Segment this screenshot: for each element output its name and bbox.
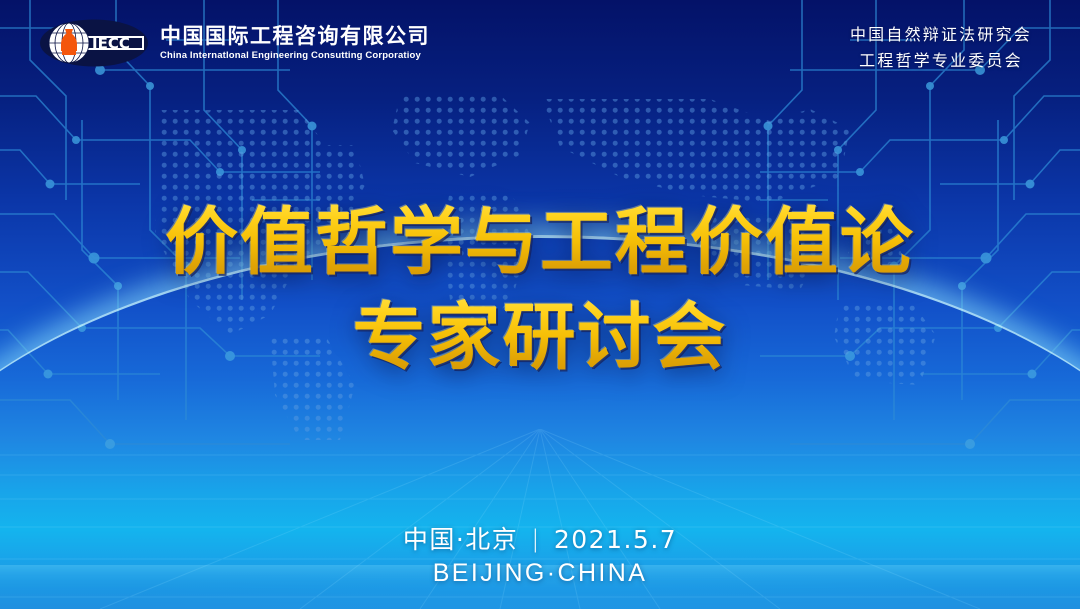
conference-title: 价值哲学与工程价值论 专家研讨会 xyxy=(0,196,1080,386)
event-date: 2021.5.7 xyxy=(554,524,677,556)
title-line-2: 专家研讨会 xyxy=(0,291,1080,386)
title-line-1: 价值哲学与工程价值论 xyxy=(0,196,1080,291)
organizer-line-2: 工程哲学专业委员会 xyxy=(850,48,1032,74)
company-name-en: China Internatlonal Engineering Consutti… xyxy=(160,51,430,61)
conference-banner: IECC 中国国际工程咨询有限公司 China Internatlonal En… xyxy=(0,0,1080,609)
location-en: BEIJING·CHINA xyxy=(0,557,1080,590)
organizer-line-1: 中国自然辩证法研究会 xyxy=(850,22,1032,48)
company-brand: IECC 中国国际工程咨询有限公司 China Internatlonal En… xyxy=(40,18,430,68)
svg-text:IECC: IECC xyxy=(92,35,130,53)
iecc-globe-logo-icon: IECC xyxy=(40,18,148,68)
company-name-cn: 中国国际工程咨询有限公司 xyxy=(160,25,430,49)
brand-text-group: 中国国际工程咨询有限公司 China Internatlonal Enginee… xyxy=(160,25,430,61)
location-cn: 中国·北京 xyxy=(403,524,518,556)
banner-header: IECC 中国国际工程咨询有限公司 China Internatlonal En… xyxy=(0,0,1080,92)
footer-location-date-row: 中国·北京 | 2021.5.7 xyxy=(0,524,1080,556)
organizer-name: 中国自然辩证法研究会 工程哲学专业委员会 xyxy=(850,22,1032,74)
banner-footer: 中国·北京 | 2021.5.7 BEIJING·CHINA xyxy=(0,524,1080,589)
footer-separator: | xyxy=(531,524,541,554)
